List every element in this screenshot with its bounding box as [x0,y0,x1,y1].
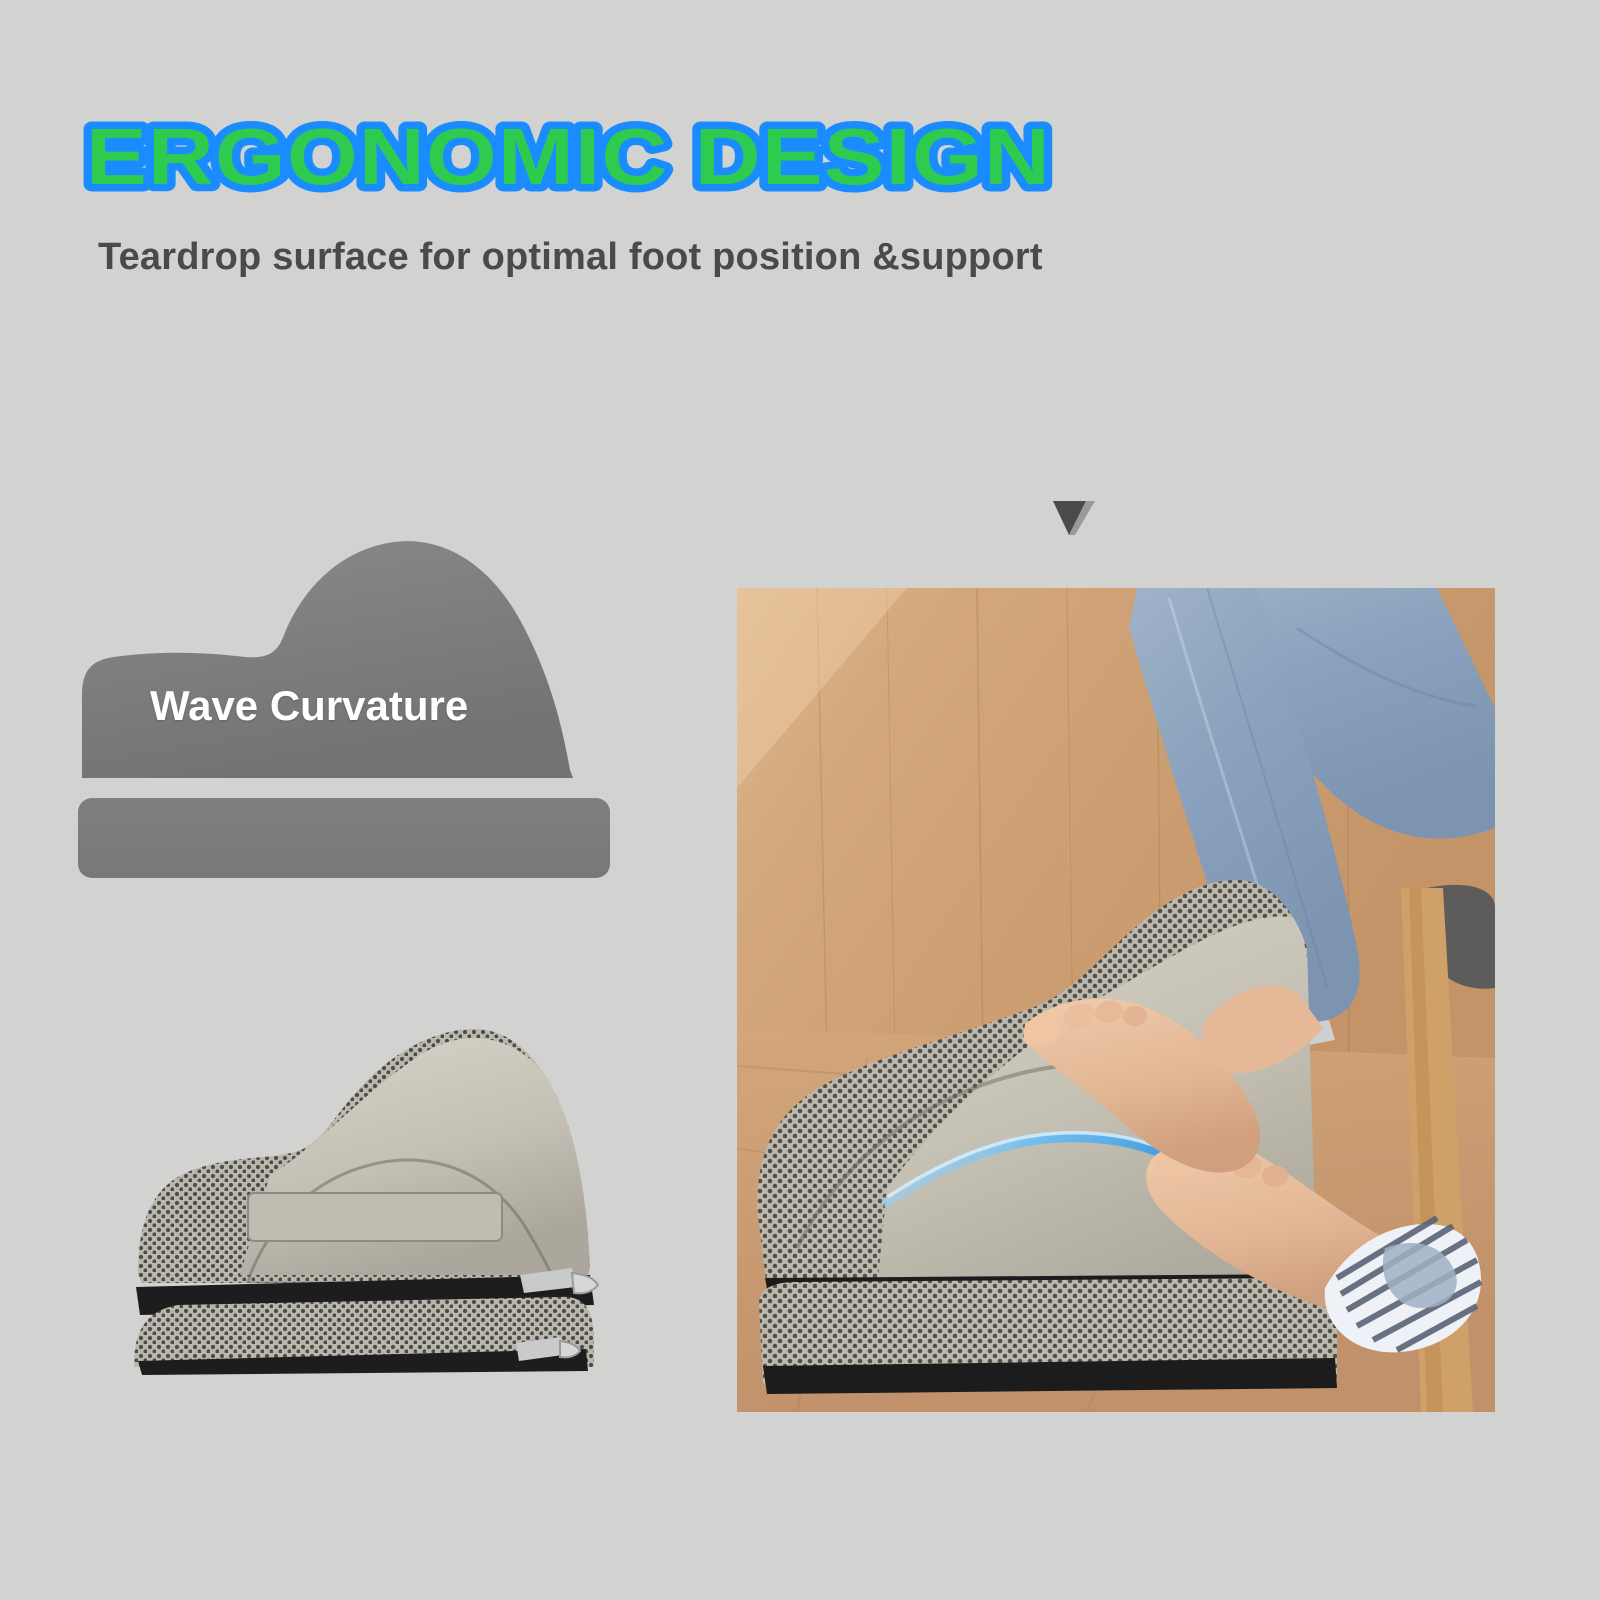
carry-handle [248,1193,502,1241]
page-title: ERGONOMIC DESIGN ERGONOMIC DESIGN [86,108,1086,208]
lifestyle-svg [737,588,1495,1412]
wave-shape-path [82,541,573,778]
triangle-down-svg [1053,501,1095,535]
footrest-folded-svg [120,975,620,1375]
headline-svg: ERGONOMIC DESIGN ERGONOMIC DESIGN [86,108,1086,208]
wave-silhouette-svg [70,520,630,790]
wave-curvature-label: Wave Curvature [150,682,468,730]
headline-fill: ERGONOMIC DESIGN [86,112,1051,201]
wave-curvature-diagram: Wave Curvature [70,520,630,890]
footrest-folded-photo [120,975,620,1375]
feet-on-footrest-photo [737,588,1495,1412]
subtitle: Teardrop surface for optimal foot positi… [98,236,1043,279]
triangle-down-icon [1053,501,1095,535]
wave-base-bar [78,798,610,878]
wave-silhouette [70,520,630,790]
product-feature-page: ERGONOMIC DESIGN ERGONOMIC DESIGN Teardr… [0,0,1600,1600]
